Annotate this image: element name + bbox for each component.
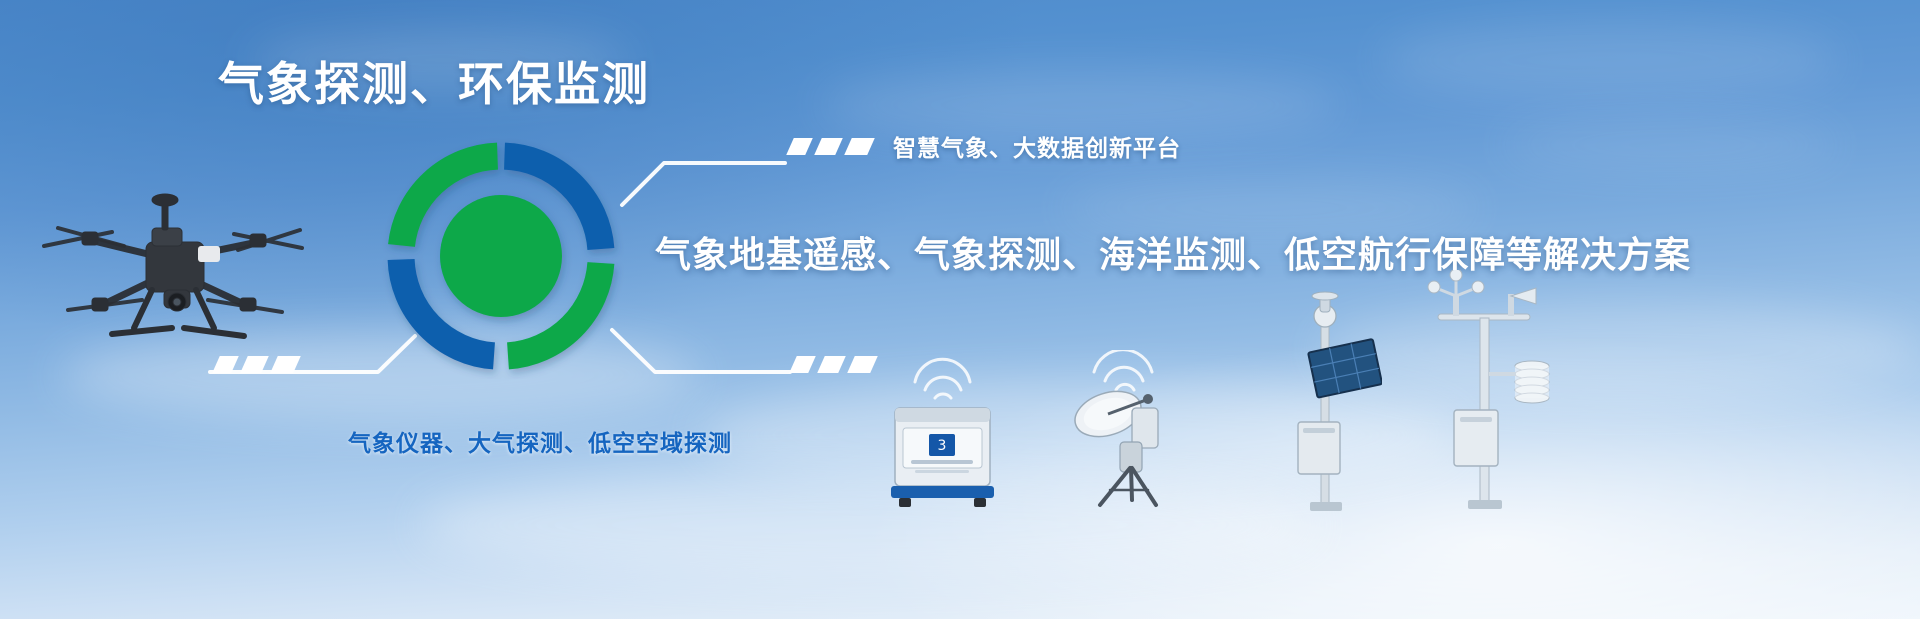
- dash-marker: [817, 356, 846, 373]
- dash-marker: [789, 356, 816, 373]
- dash-marker: [847, 356, 878, 373]
- dash-marker: [844, 138, 875, 155]
- solar-powered-station: [1272, 290, 1382, 515]
- banner-root: 气象探测、环保监测 气象地基遥感、气象探测、海洋监测、低空航行保障等解决方案 智…: [0, 0, 1920, 619]
- tripod-dish-antenna: [1060, 350, 1195, 510]
- dash-marker-group-bottom-right: [793, 356, 874, 373]
- cloud-wisp: [1380, 20, 1840, 100]
- callout-bottom-label: 气象仪器、大气探测、低空空域探测: [348, 424, 732, 458]
- quadcopter-drone: [38, 150, 308, 360]
- svg-text:3: 3: [938, 438, 947, 454]
- weather-station-mast: [1410, 270, 1560, 520]
- cloud-wisp: [1500, 120, 1840, 170]
- callout-top-right: 智慧气象、大数据创新平台: [790, 129, 1181, 163]
- connector-line-bottom-right: [612, 330, 790, 372]
- lidar-instrument-box: 3: [885, 330, 1000, 510]
- donut-center-disc: [440, 195, 562, 317]
- donut-chart: [378, 133, 624, 379]
- dash-marker: [814, 138, 843, 155]
- page-title: 气象探测、环保监测: [218, 48, 650, 114]
- connector-line-top: [622, 163, 785, 205]
- dash-marker: [786, 138, 813, 155]
- callout-top-label: 智慧气象、大数据创新平台: [893, 129, 1181, 163]
- dash-marker-group-top: [790, 138, 871, 155]
